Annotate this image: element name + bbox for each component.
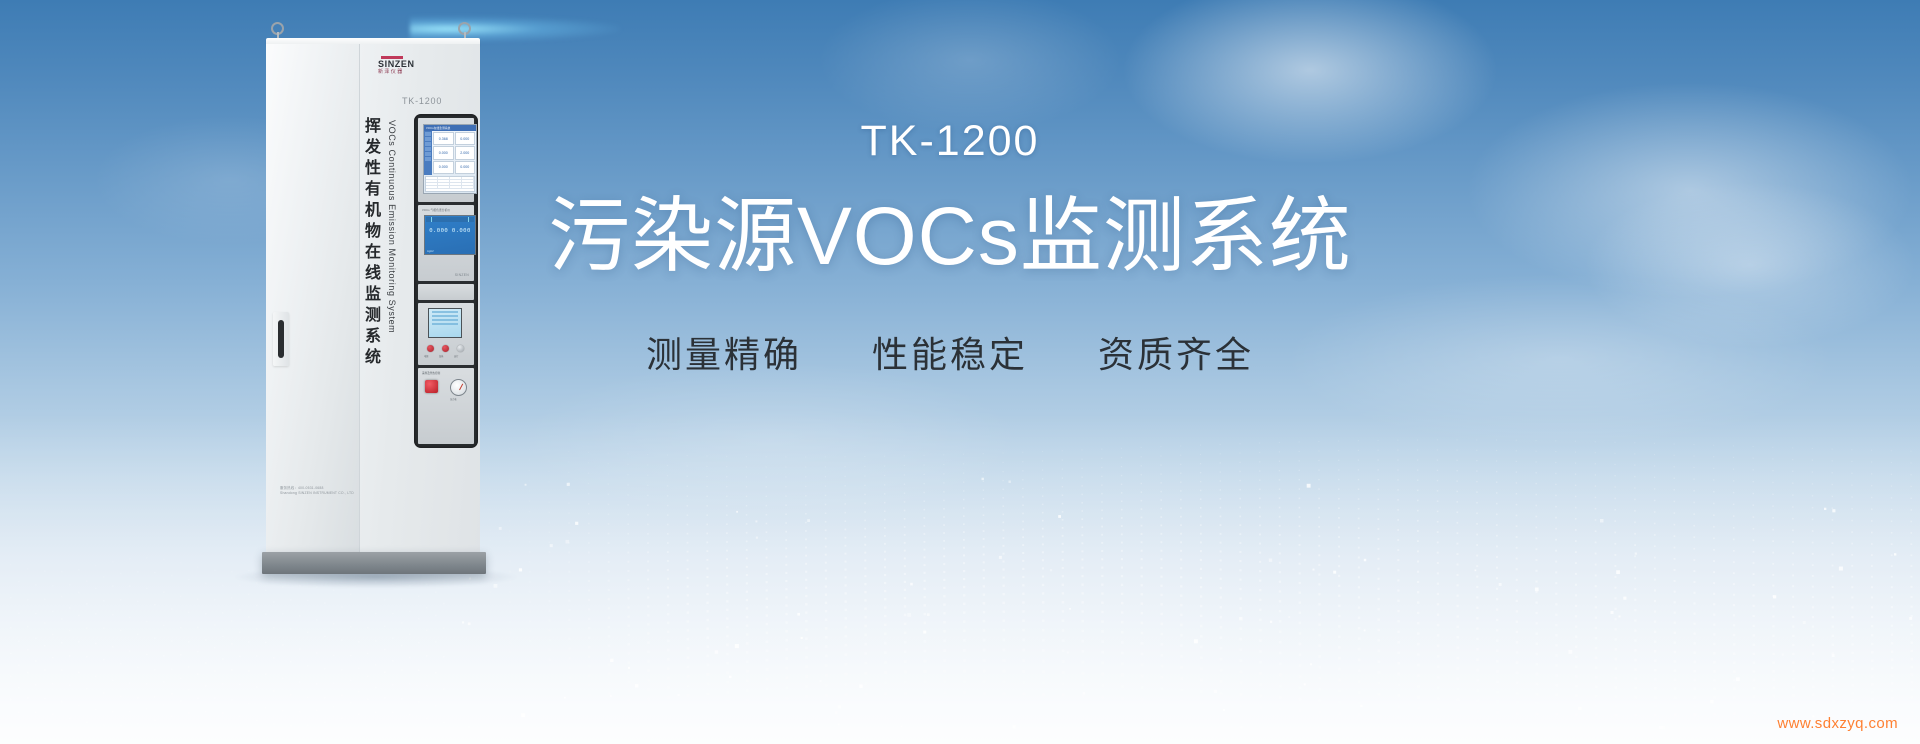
hmi-nav-item[interactable]: [425, 152, 431, 156]
analyzer-brand-mark: SINZEN: [455, 273, 469, 277]
run-selector-knob[interactable]: [457, 345, 464, 352]
logo-wordmark: SINZEN: [378, 60, 415, 69]
feature-item-certification: 资质齐全: [1098, 326, 1254, 378]
analyzer-display: 0.000 0.000 mg/m³: [424, 215, 476, 255]
site-watermark: www.sdxzyq.com: [1777, 715, 1898, 732]
feature-item-stability: 性能稳定: [872, 326, 1028, 378]
power-knob[interactable]: [427, 345, 434, 352]
run-knob-label: 运行: [454, 354, 458, 358]
controller-bay: 电源 加热 运行: [418, 303, 474, 365]
blank-panel: [418, 284, 474, 300]
hmi-reading-cell: 0.000: [455, 161, 476, 174]
banner-main-title: 污染源VOCs监测系统: [540, 193, 1360, 282]
heater-knob[interactable]: [442, 345, 449, 352]
gc-analyzer-bay: VOCs 气相色谱分析仪 0.000 0.000 mg/m³ SINZEN: [418, 205, 474, 281]
product-banner: SINZEN 新泽仪器 TK-1200 挥发性有机物在线监测系统 VOCs Co…: [0, 0, 1920, 744]
hmi-data-table: [425, 176, 475, 192]
hmi-nav-item[interactable]: [425, 147, 431, 151]
pressure-gauge-label: 压力表: [450, 397, 457, 401]
emergency-stop-button[interactable]: [425, 380, 438, 393]
hmi-bay: VOCs在线监测系统 0.368 0.000: [418, 118, 474, 202]
hmi-nav-item[interactable]: [425, 132, 431, 136]
pressure-gauge-icon: [450, 379, 467, 396]
heater-knob-label: 加热: [439, 354, 443, 358]
valve-panel-label: 采样及伴热控制: [422, 371, 440, 375]
vocs-analyzer-cabinet: SINZEN 新泽仪器 TK-1200 挥发性有机物在线监测系统 VOCs Co…: [262, 22, 486, 574]
hmi-reading-cell: 0.000: [455, 132, 476, 145]
hmi-nav-item[interactable]: [425, 137, 431, 141]
hmi-reading-cell: 2.000: [455, 146, 476, 159]
feature-item-accuracy: 测量精确: [646, 326, 802, 378]
feature-list: 测量精确 性能稳定 资质齐全: [540, 326, 1360, 378]
cabinet-base-plinth: [262, 552, 486, 574]
sinzen-brand-logo: SINZEN 新泽仪器: [378, 56, 415, 75]
instrument-viewing-window: VOCs在线监测系统 0.368 0.000: [414, 114, 478, 448]
nameplate-company: Shandong SINZEN INSTRUMENT CO., LTD: [280, 491, 360, 496]
analyzer-status-strip: [426, 217, 474, 222]
cabinet-left-door: [266, 44, 360, 552]
cloud-decoration: [1520, 150, 1920, 380]
hmi-body: 0.368 0.000 0.000 2.000 0.000 0.000: [424, 131, 476, 175]
logo-wordmark-cn: 新泽仪器: [378, 70, 415, 75]
hmi-nav-item[interactable]: [425, 157, 431, 161]
product-model-code: TK-1200: [540, 120, 1360, 163]
hmi-table-row: [426, 186, 474, 189]
analyzer-reading-unit: mg/m³: [427, 250, 434, 253]
cabinet-vertical-title-en: VOCs Continuous Emission Monitoring Syst…: [387, 120, 397, 333]
hmi-nav-rail[interactable]: [424, 131, 432, 175]
cabinet-model-label: TK-1200: [402, 96, 442, 106]
hmi-reading-cell: 0.000: [433, 161, 454, 174]
hmi-reading-grid: 0.368 0.000 0.000 2.000 0.000 0.000: [432, 131, 476, 175]
analyzer-reading-value: 0.000 0.000: [425, 228, 475, 234]
analyzer-panel-label: VOCs 气相色谱分析仪: [422, 208, 450, 212]
cloud-decoration: [1380, 40, 1920, 340]
hmi-nav-item[interactable]: [425, 142, 431, 146]
hmi-reading-cell: 0.000: [433, 146, 454, 159]
cabinet-door-handle[interactable]: [273, 312, 289, 366]
sampling-control-bay: 采样及伴热控制 压力表: [418, 368, 474, 444]
cabinet-vertical-title-cn: 挥发性有机物在线监测系统: [362, 117, 378, 369]
hmi-touch-screen[interactable]: VOCs在线监测系统 0.368 0.000: [423, 124, 477, 194]
power-knob-label: 电源: [424, 354, 428, 358]
controller-display[interactable]: [428, 308, 462, 338]
cabinet-nameplate: 服务热线：400-0531-0688 Shandong SINZEN INSTR…: [280, 486, 360, 496]
banner-text-block: TK-1200 污染源VOCs监测系统 测量精确 性能稳定 资质齐全: [540, 120, 1360, 378]
hmi-reading-cell: 0.368: [433, 132, 454, 145]
